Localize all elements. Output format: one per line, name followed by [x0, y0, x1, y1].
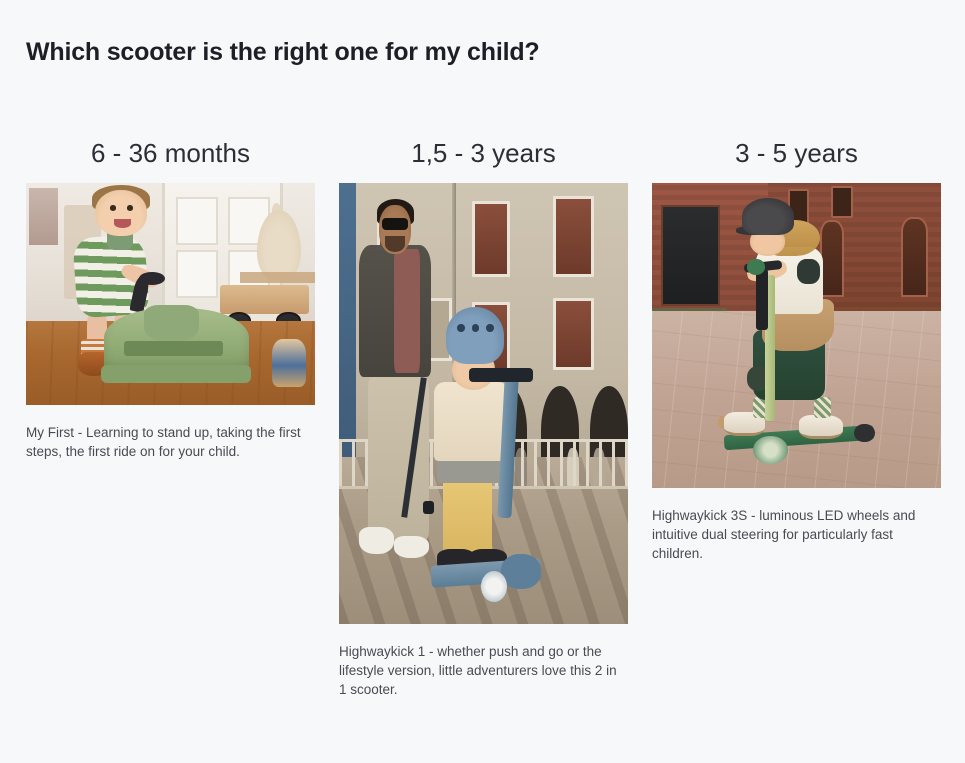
scooter-front-wheel: [481, 571, 507, 602]
building-window: [820, 220, 844, 297]
child-trousers: [443, 474, 492, 553]
product-caption: Highwaykick 3S - luminous LED wheels and…: [652, 506, 937, 563]
door-pane: [176, 250, 218, 298]
scooter-rear-wheel: [854, 424, 874, 442]
child-blue-helmet: [446, 307, 504, 364]
building-door: [661, 205, 720, 307]
age-category-6-36-months[interactable]: 6 - 36 months: [26, 138, 315, 461]
wooden-shelf: [240, 272, 315, 283]
adult-beard: [385, 236, 405, 251]
ride-on-handle-knob: [139, 272, 165, 285]
page-title: Which scooter is the right one for my ch…: [26, 38, 539, 67]
product-image-highwaykick-1[interactable]: [339, 183, 628, 624]
scooter-handlebar: [469, 368, 533, 381]
scooter-grip: [747, 259, 764, 274]
child-elbow-pad: [797, 259, 820, 283]
helmet-vent: [457, 324, 465, 331]
age-category-3-5-years[interactable]: 3 - 5 years: [652, 138, 941, 563]
age-category-columns: 6 - 36 months: [26, 138, 941, 699]
sunglasses-icon: [382, 218, 408, 229]
child-mouth: [114, 219, 131, 228]
child-black-helmet: [742, 198, 794, 235]
age-range-heading: 1,5 - 3 years: [339, 138, 628, 169]
age-range-heading: 3 - 5 years: [652, 138, 941, 169]
scooter-front-wheel: [753, 436, 788, 463]
scooter-age-guide-page: Which scooter is the right one for my ch…: [0, 0, 965, 763]
child-sock: [814, 397, 831, 418]
product-image-highwaykick-3s[interactable]: [652, 183, 941, 488]
helmet-vent: [486, 324, 494, 331]
wooden-rabbit-decor: [257, 210, 300, 281]
child-head: [95, 190, 147, 237]
scooter-rear-wheel-housing: [501, 554, 541, 589]
adult-shoe: [394, 536, 429, 558]
child-jacket: [434, 382, 509, 461]
ride-on-top-plate: [144, 305, 199, 341]
child-shoe: [799, 415, 842, 439]
product-caption: Highwaykick 1 - whether push and go or t…: [339, 642, 624, 699]
building-window: [472, 201, 510, 278]
scooter-stem-upper: [756, 269, 768, 330]
adult-shirt: [394, 249, 420, 372]
ride-on-handle-slot: [124, 341, 222, 357]
wooden-figure-toy: [272, 339, 307, 388]
scooter-push-handle: [423, 501, 435, 514]
age-category-1-5-3-years[interactable]: 1,5 - 3 years: [339, 138, 628, 699]
adult-shoe: [359, 527, 394, 553]
window-left: [29, 188, 58, 246]
age-range-heading: 6 - 36 months: [26, 138, 315, 169]
child-eye: [110, 205, 116, 210]
building-window: [553, 298, 594, 370]
wooden-toy-cart: [220, 285, 310, 314]
building-window: [901, 217, 928, 297]
ride-on-base: [101, 365, 251, 383]
product-caption: My First - Learning to stand up, taking …: [26, 423, 311, 461]
building-window: [553, 196, 594, 277]
door-pane: [176, 197, 218, 245]
building-window: [831, 186, 852, 217]
product-image-my-first[interactable]: [26, 183, 315, 405]
